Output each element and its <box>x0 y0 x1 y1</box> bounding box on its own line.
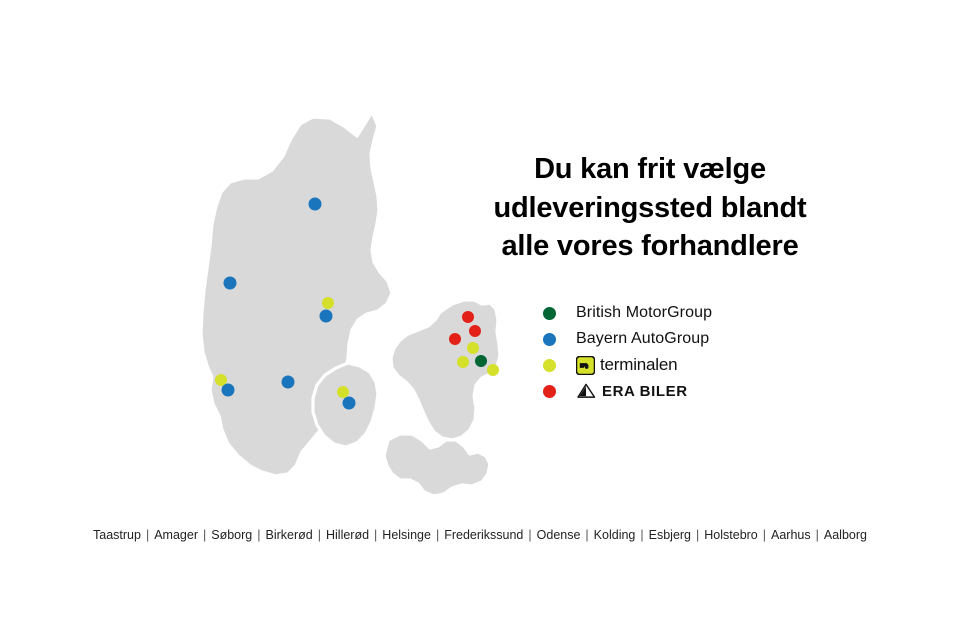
map-marker-aarhus[interactable] <box>322 297 334 309</box>
city-separator: | <box>523 528 536 542</box>
legend-label-british-motorgroup: British MotorGroup <box>576 304 712 322</box>
city-name: Esbjerg <box>649 528 691 542</box>
city-name: Hillerød <box>326 528 369 542</box>
era-biler-logo-icon <box>576 383 597 399</box>
headline-line-1: Du kan frit vælge <box>455 150 845 189</box>
terminalen-logo-icon <box>576 356 595 375</box>
city-separator: | <box>141 528 154 542</box>
city-name: Holstebro <box>704 528 758 542</box>
city-name: Søborg <box>211 528 252 542</box>
city-name: Frederikssund <box>444 528 523 542</box>
map-marker-holstebro[interactable] <box>224 277 237 290</box>
map-marker-amager[interactable] <box>475 355 487 367</box>
city-name: Aarhus <box>771 528 811 542</box>
headline-line-3: alle vores forhandlere <box>455 227 845 266</box>
map-marker-birker-d[interactable] <box>467 342 479 354</box>
legend-item-bayern-autogroup[interactable]: Bayern AutoGroup <box>543 326 843 352</box>
city-separator: | <box>369 528 382 542</box>
city-name: Aalborg <box>824 528 867 542</box>
map-region-lolland-falster <box>384 434 490 496</box>
map-marker-esbjerg[interactable] <box>222 384 235 397</box>
city-separator: | <box>431 528 444 542</box>
city-separator: | <box>691 528 704 542</box>
legend-label-bayern-autogroup: Bayern AutoGroup <box>576 330 709 348</box>
city-list: Taastrup|Amager|Søborg|Birkerød|Hillerød… <box>0 528 960 542</box>
legend-label-terminalen: terminalen <box>600 355 677 375</box>
legend-dot-blue <box>543 333 556 346</box>
brand-legend: British MotorGroup Bayern AutoGroup term… <box>543 300 843 404</box>
map-marker-odense[interactable] <box>343 397 356 410</box>
city-separator: | <box>252 528 265 542</box>
legend-dot-yellow <box>543 359 556 372</box>
map-marker-s-borg[interactable] <box>457 356 469 368</box>
city-name: Taastrup <box>93 528 141 542</box>
map-region-zealand <box>391 300 500 440</box>
legend-item-british-motorgroup[interactable]: British MotorGroup <box>543 300 843 326</box>
map-marker-kolding[interactable] <box>282 376 295 389</box>
legend-dot-red <box>543 385 556 398</box>
legend-item-terminalen[interactable]: terminalen <box>543 352 843 378</box>
legend-item-era-biler[interactable]: ERA BILER <box>543 378 843 404</box>
legend-dot-green <box>543 307 556 320</box>
city-separator: | <box>758 528 771 542</box>
map-marker-aarhus[interactable] <box>320 310 333 323</box>
city-name: Helsinge <box>382 528 431 542</box>
map-marker-frederikssund[interactable] <box>449 333 461 345</box>
city-separator: | <box>811 528 824 542</box>
city-separator: | <box>635 528 648 542</box>
city-name: Birkerød <box>266 528 313 542</box>
map-marker-odense[interactable] <box>337 386 349 398</box>
city-separator: | <box>580 528 593 542</box>
map-marker-helsinge[interactable] <box>462 311 474 323</box>
map-marker-aalborg[interactable] <box>309 198 322 211</box>
headline-line-2: udleveringssted blandt <box>455 189 845 228</box>
city-separator: | <box>313 528 326 542</box>
legend-label-era-biler: ERA BILER <box>602 383 688 400</box>
city-name: Odense <box>537 528 581 542</box>
city-name: Amager <box>154 528 198 542</box>
city-name: Kolding <box>594 528 636 542</box>
map-marker-hiller-d[interactable] <box>469 325 481 337</box>
page-title: Du kan frit vælge udleveringssted blandt… <box>455 150 845 266</box>
city-separator: | <box>198 528 211 542</box>
map-marker-taastrup[interactable] <box>487 364 499 376</box>
